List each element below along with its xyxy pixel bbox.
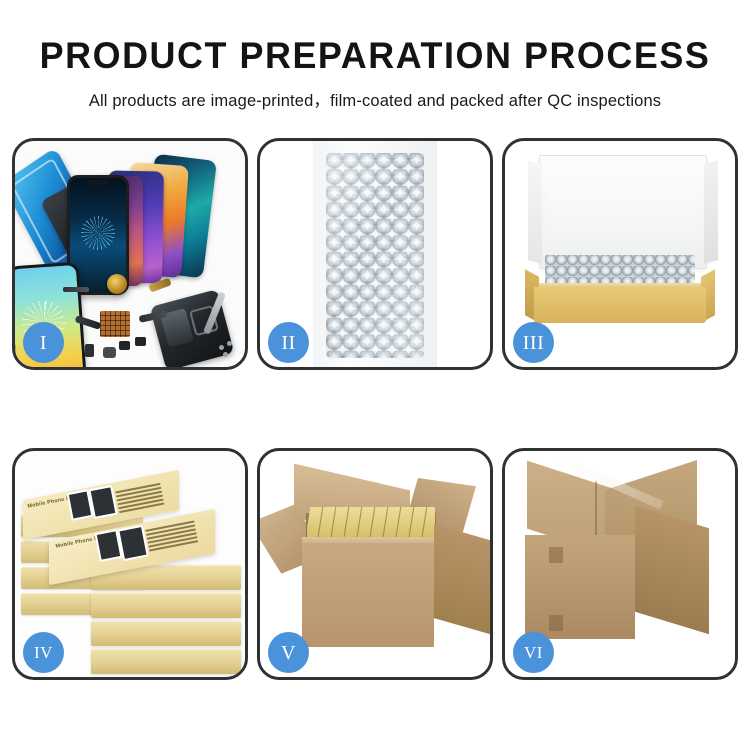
stacked-box-r2: [91, 593, 241, 618]
page-subtitle: All products are image-printed，film-coat…: [0, 87, 750, 111]
chip-part-1-icon: [119, 341, 130, 350]
step-panel-2[interactable]: II: [257, 138, 493, 370]
step-panel-5[interactable]: V: [257, 448, 493, 680]
steps-grid: I II III: [12, 138, 738, 680]
earpiece-part-icon: [63, 287, 89, 292]
screw-1-icon: [219, 345, 224, 350]
step-badge-6: VI: [513, 632, 554, 673]
carton-front-face: [302, 543, 434, 647]
step-panel-3[interactable]: III: [502, 138, 738, 370]
screw-3-icon: [223, 352, 228, 357]
step-badge-2: II: [268, 322, 309, 363]
foam-sheet-icon: [549, 189, 697, 255]
step-panel-1[interactable]: I: [12, 138, 248, 370]
screw-2-icon: [227, 341, 232, 346]
step-badge-1: I: [23, 322, 64, 363]
product-preparation-infographic: PRODUCT PREPARATION PROCESS All products…: [0, 0, 750, 750]
stacked-box-r3: [91, 621, 241, 646]
copper-mesh-icon: [100, 311, 130, 337]
chip-part-3-icon: [85, 344, 94, 357]
carton-hand-hole-2: [549, 615, 563, 631]
step-badge-3: III: [513, 322, 554, 363]
inner-box-front-icon: [534, 287, 706, 323]
page-title: PRODUCT PREPARATION PROCESS: [11, 34, 739, 78]
stacked-box-r4: [91, 649, 241, 674]
header: PRODUCT PREPARATION PROCESS All products…: [0, 0, 750, 111]
carton-hand-hole-1: [549, 547, 563, 563]
step-badge-5: V: [268, 632, 309, 673]
phone-notch-icon: [87, 180, 109, 185]
step-panel-4[interactable]: Mobile Phone Spare Parts Mobile Phone Sp…: [12, 448, 248, 680]
chip-part-2-icon: [135, 337, 146, 346]
sealed-carton-front-face: [525, 535, 635, 639]
carton-right-face: [434, 524, 490, 636]
step-panel-6[interactable]: VI: [502, 448, 738, 680]
sealed-carton-side-face: [635, 506, 709, 635]
chip-part-4-icon: [103, 347, 116, 358]
bubble-wrap-sheen: [326, 153, 424, 358]
coil-part-icon: [107, 274, 127, 294]
step-badge-4: IV: [23, 632, 64, 673]
